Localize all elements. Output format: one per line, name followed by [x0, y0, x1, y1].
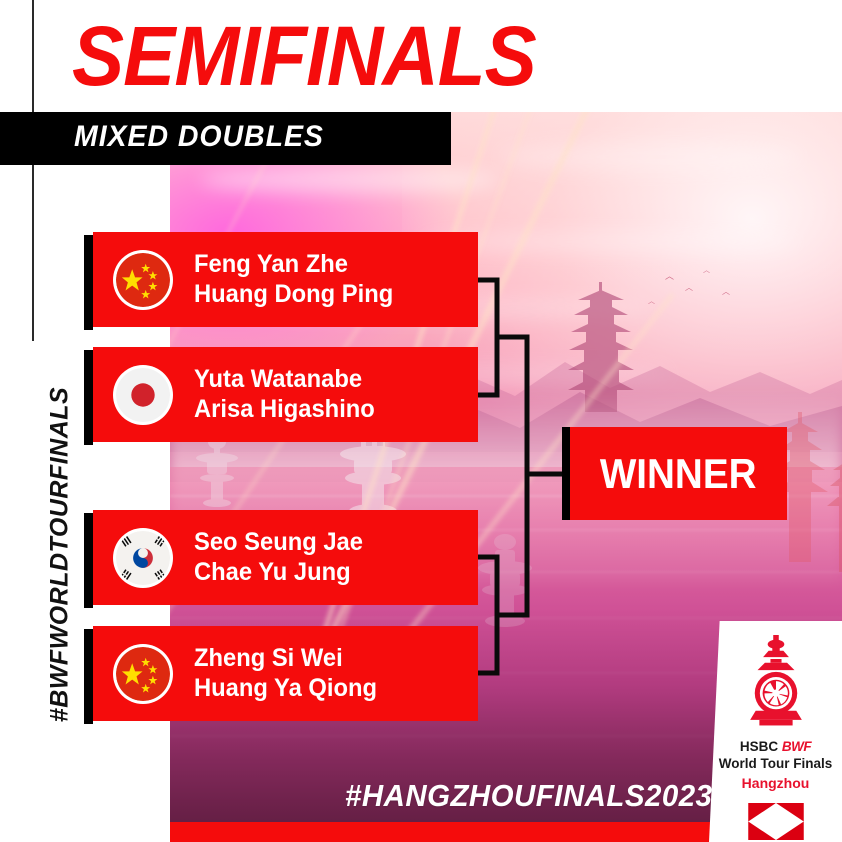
left-vertical-rule — [32, 0, 34, 341]
player-line-1: Seo Seung Jae — [194, 528, 363, 557]
bird-icon: ︿ — [685, 284, 693, 292]
japan-flag-icon — [116, 368, 170, 422]
sponsor-logo-panel: HSBC BWF World Tour Finals Hangzhou — [709, 621, 842, 842]
discipline-label: MIXED DOUBLES — [74, 120, 324, 154]
player-line-2: Huang Dong Ping — [194, 280, 393, 309]
bird-icon: ︿ — [703, 267, 710, 274]
stone-lantern-silhouette — [470, 532, 540, 628]
bwf-wordmark: BWF — [782, 739, 811, 754]
card-player-names: Feng Yan Zhe Huang Dong Ping — [194, 250, 393, 309]
china-flag-icon — [116, 253, 170, 307]
winner-label: WINNER — [600, 450, 757, 498]
cloud-streak — [500, 142, 800, 172]
player-line-2: Huang Ya Qiong — [194, 674, 377, 703]
hsbc-wordmark: HSBC — [740, 739, 778, 754]
bracket-card[interactable]: Yuta Watanabe Arisa Higashino — [93, 347, 478, 442]
vertical-hashtag: #BWFWORLDTOURFINALS — [46, 345, 75, 765]
bwf-hangzhou-logo-icon — [739, 635, 813, 736]
bracket-card[interactable]: Feng Yan Zhe Huang Dong Ping — [93, 232, 478, 327]
page-title: SEMIFINALS — [72, 14, 536, 98]
host-city: Hangzhou — [709, 775, 842, 793]
south-korea-flag-icon — [116, 531, 170, 585]
event-name: World Tour Finals — [719, 756, 833, 771]
bird-icon: ︿ — [665, 272, 674, 281]
bracket-card[interactable]: Seo Seung Jae Chae Yu Jung — [93, 510, 478, 605]
player-line-2: Chae Yu Jung — [194, 558, 363, 587]
cloud-streak — [200, 167, 500, 193]
china-flag-icon — [116, 647, 170, 701]
card-player-names: Yuta Watanabe Arisa Higashino — [194, 365, 375, 424]
far-pagoda-silhouette — [825, 452, 842, 577]
player-line-1: Yuta Watanabe — [194, 365, 375, 394]
bracket-card[interactable]: Zheng Si Wei Huang Ya Qiong — [93, 626, 478, 721]
card-player-names: Seo Seung Jae Chae Yu Jung — [194, 528, 363, 587]
bird-icon: ︿ — [648, 298, 655, 305]
player-line-1: Feng Yan Zhe — [194, 250, 393, 279]
player-line-2: Arisa Higashino — [194, 395, 375, 424]
bird-icon: ︿ — [722, 288, 730, 296]
player-line-1: Zheng Si Wei — [194, 644, 377, 673]
sponsor-logo-text: HSBC BWF World Tour Finals Hangzhou — [709, 739, 842, 792]
stone-lantern-silhouette — [190, 434, 244, 508]
hsbc-hexagon-icon — [748, 803, 804, 842]
bottom-hashtag: #HANGZHOUFINALS2023 — [345, 778, 712, 814]
card-player-names: Zheng Si Wei Huang Ya Qiong — [194, 644, 377, 703]
poster-canvas: ︿ ︿ ︿ ︿ ︿ — [0, 0, 842, 842]
winner-card[interactable]: WINNER — [570, 427, 787, 520]
